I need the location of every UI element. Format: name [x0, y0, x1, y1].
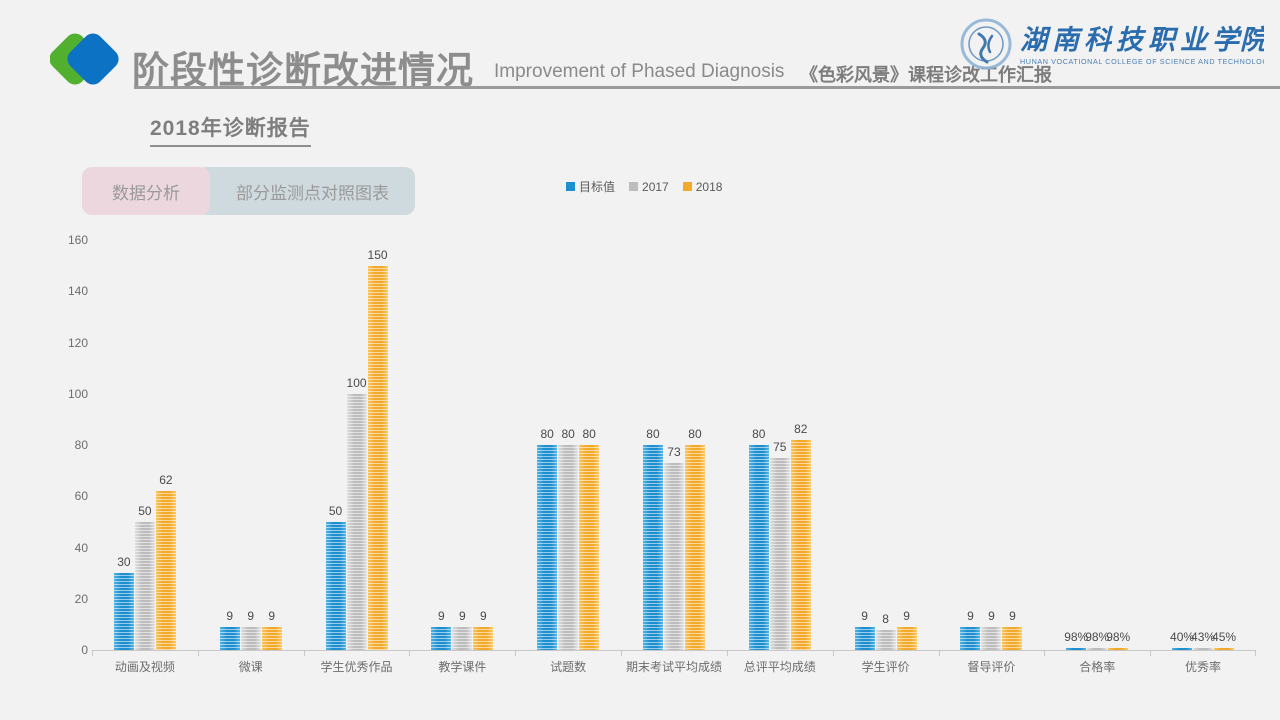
bar-value-label: 62 — [159, 473, 172, 487]
x-axis-category-label: 动画及视频 — [92, 658, 198, 675]
bar-slot: 80 — [643, 240, 663, 650]
x-axis-category-label: 合格率 — [1044, 658, 1150, 675]
bar-slot: 40% — [1172, 240, 1192, 650]
x-axis-tick — [621, 650, 622, 656]
bar-group: 305062动画及视频 — [92, 240, 198, 650]
bar-slot: 9 — [452, 240, 472, 650]
bar-slot: 98% — [1108, 240, 1128, 650]
bar-2018-教学课件[interactable]: 9 — [473, 627, 493, 650]
y-axis-tick-label: 140 — [42, 284, 88, 298]
legend-label: 目标值 — [579, 178, 615, 195]
bar-value-label: 100 — [347, 376, 367, 390]
bar-2017-督导评价[interactable]: 9 — [981, 627, 1001, 650]
svg-text:技: 技 — [1116, 25, 1147, 56]
bar-slot: 80 — [685, 240, 705, 650]
x-axis-tick — [1150, 650, 1151, 656]
bar-value-label: 150 — [368, 248, 388, 262]
title-underline-rule — [134, 86, 1280, 89]
bar-group: 808080试题数 — [515, 240, 621, 650]
x-axis-tick — [1044, 650, 1045, 656]
bar-group: 807582总评平均成绩 — [727, 240, 833, 650]
bar-slot: 30 — [114, 240, 134, 650]
bar-group: 999微课 — [198, 240, 304, 650]
x-axis-tick — [515, 650, 516, 656]
bar-group: 98%98%98%合格率 — [1044, 240, 1150, 650]
x-axis-category-label: 试题数 — [515, 658, 621, 675]
bar-2018-动画及视频[interactable]: 62 — [156, 491, 176, 650]
bar-slot: 50 — [135, 240, 155, 650]
x-axis-tick — [833, 650, 834, 656]
bar-目标值-微课[interactable]: 9 — [220, 627, 240, 650]
bar-slot: 9 — [897, 240, 917, 650]
bar-cluster: 40%43%45% — [1150, 240, 1256, 650]
bar-2018-学生优秀作品[interactable]: 150 — [368, 266, 388, 650]
bar-2018-督导评价[interactable]: 9 — [1002, 627, 1022, 650]
bar-value-label: 9 — [967, 609, 974, 623]
bar-slot: 150 — [368, 240, 388, 650]
bar-value-label: 9 — [903, 609, 910, 623]
x-axis-tick — [727, 650, 728, 656]
bar-目标值-试题数[interactable]: 80 — [537, 445, 557, 650]
y-axis-tick-label: 60 — [42, 489, 88, 503]
bar-目标值-学生优秀作品[interactable]: 50 — [326, 522, 346, 650]
bar-2018-合格率[interactable]: 98% — [1108, 648, 1128, 651]
x-axis-line — [92, 650, 1256, 651]
header-subtitle-en: Improvement of Phased Diagnosis — [494, 61, 784, 83]
bar-slot: 73 — [664, 240, 684, 650]
y-axis-tick-label: 40 — [42, 541, 88, 555]
bar-value-label: 9 — [226, 609, 233, 623]
svg-text:院: 院 — [1240, 25, 1264, 56]
bar-cluster: 305062 — [92, 240, 198, 650]
bar-slot: 62 — [156, 240, 176, 650]
legend-swatch-icon — [629, 182, 638, 191]
x-axis-category-label: 学生评价 — [833, 658, 939, 675]
legend-swatch-icon — [683, 182, 692, 191]
bar-value-label: 9 — [268, 609, 275, 623]
bar-value-label: 80 — [561, 427, 574, 441]
y-axis-tick-label: 100 — [42, 387, 88, 401]
legend-item-2017[interactable]: 2017 — [629, 180, 669, 194]
bar-group: 999教学课件 — [409, 240, 515, 650]
x-axis-tick — [304, 650, 305, 656]
bar-目标值-动画及视频[interactable]: 30 — [114, 573, 134, 650]
bar-group: 989学生评价 — [833, 240, 939, 650]
bar-value-label: 9 — [988, 609, 995, 623]
y-axis-tick-label: 20 — [42, 592, 88, 606]
bar-slot: 9 — [241, 240, 261, 650]
bar-slot: 43% — [1193, 240, 1213, 650]
bar-group: 807380期末考试平均成绩 — [621, 240, 727, 650]
svg-text:业: 业 — [1180, 25, 1210, 56]
bar-value-label: 9 — [861, 609, 868, 623]
grouped-bar-chart: 020406080100120140160 305062动画及视频999微课50… — [0, 240, 1280, 680]
bar-value-label: 9 — [438, 609, 445, 623]
bar-slot: 100 — [347, 240, 367, 650]
x-axis-category-label: 教学课件 — [409, 658, 515, 675]
bar-value-label: 80 — [582, 427, 595, 441]
legend-label: 2017 — [642, 180, 669, 194]
bar-cluster: 807380 — [621, 240, 727, 650]
bar-cluster: 808080 — [515, 240, 621, 650]
bar-cluster: 999 — [409, 240, 515, 650]
bar-slot: 80 — [749, 240, 769, 650]
bar-cluster: 50100150 — [304, 240, 410, 650]
bar-2017-合格率[interactable]: 98% — [1087, 648, 1107, 651]
y-axis-tick-label: 160 — [42, 233, 88, 247]
bar-group: 40%43%45%优秀率 — [1150, 240, 1256, 650]
bar-slot: 9 — [262, 240, 282, 650]
svg-text:HUNAN VOCATIONAL COLLEGE OF SC: HUNAN VOCATIONAL COLLEGE OF SCIENCE AND … — [1020, 57, 1264, 66]
bar-value-label: 50 — [329, 504, 342, 518]
bar-2018-学生评价[interactable]: 9 — [897, 627, 917, 650]
x-axis-category-label: 学生优秀作品 — [304, 658, 410, 675]
x-axis-tick — [939, 650, 940, 656]
bar-cluster: 999 — [939, 240, 1045, 650]
x-axis-category-label: 优秀率 — [1150, 658, 1256, 675]
bar-value-label: 73 — [667, 445, 680, 459]
svg-text:科: 科 — [1084, 25, 1113, 56]
y-axis-tick-label: 80 — [42, 438, 88, 452]
bar-2018-优秀率[interactable]: 45% — [1214, 648, 1234, 650]
bar-slot: 9 — [960, 240, 980, 650]
bar-目标值-总评平均成绩[interactable]: 80 — [749, 445, 769, 650]
bar-2018-微课[interactable]: 9 — [262, 627, 282, 650]
bar-slot: 82 — [791, 240, 811, 650]
bar-slot: 9 — [1002, 240, 1022, 650]
bar-slot: 8 — [876, 240, 896, 650]
bar-slot: 9 — [431, 240, 451, 650]
bar-目标值-教学课件[interactable]: 9 — [431, 627, 451, 650]
bar-slot: 98% — [1087, 240, 1107, 650]
bar-2017-总评平均成绩[interactable]: 75 — [770, 458, 790, 650]
legend-item-2018[interactable]: 2018 — [683, 180, 723, 194]
bar-value-label: 82 — [794, 422, 807, 436]
bar-2018-期末考试平均成绩[interactable]: 80 — [685, 445, 705, 650]
y-axis-tick-label: 0 — [42, 643, 88, 657]
bar-slot: 80 — [537, 240, 557, 650]
bar-slot: 9 — [220, 240, 240, 650]
bar-slot: 98% — [1066, 240, 1086, 650]
chart-legend: 目标值20172018 — [566, 178, 731, 195]
bar-value-label: 98% — [1106, 630, 1130, 644]
bar-value-label: 80 — [646, 427, 659, 441]
bar-slot: 9 — [981, 240, 1001, 650]
y-axis: 020406080100120140160 — [42, 240, 88, 650]
x-axis-tick — [92, 650, 93, 656]
bar-slot: 9 — [473, 240, 493, 650]
bar-2017-学生评价[interactable]: 8 — [876, 630, 896, 651]
slide-canvas: 阶段性诊断改进情况 Improvement of Phased Diagnosi… — [0, 0, 1280, 720]
bar-value-label: 80 — [752, 427, 765, 441]
section-title: 2018年诊断报告 — [150, 112, 311, 147]
legend-label: 2018 — [696, 180, 723, 194]
bar-2017-教学课件[interactable]: 9 — [452, 627, 472, 650]
svg-text:职: 职 — [1148, 25, 1179, 56]
bar-cluster: 807582 — [727, 240, 833, 650]
x-axis-category-label: 督导评价 — [939, 658, 1045, 675]
bar-slot: 80 — [558, 240, 578, 650]
bar-value-label: 30 — [117, 555, 130, 569]
bar-目标值-合格率[interactable]: 98% — [1066, 648, 1086, 651]
bar-目标值-学生评价[interactable]: 9 — [855, 627, 875, 650]
x-axis-tick — [198, 650, 199, 656]
bar-2017-试题数[interactable]: 80 — [558, 445, 578, 650]
svg-text:学: 学 — [1212, 25, 1243, 56]
bar-value-label: 50 — [138, 504, 151, 518]
x-axis-category-label: 期末考试平均成绩 — [621, 658, 727, 675]
bar-value-label: 80 — [688, 427, 701, 441]
bar-cluster: 989 — [833, 240, 939, 650]
x-axis-category-label: 总评平均成绩 — [727, 658, 833, 675]
bar-value-label: 9 — [1009, 609, 1016, 623]
bar-slot: 50 — [326, 240, 346, 650]
school-crest-icon: 湖南科 技职业 学院 HUNAN VOCATIONAL COLLEGE OF S… — [952, 16, 1264, 78]
bar-slot: 9 — [855, 240, 875, 650]
bar-value-label: 9 — [247, 609, 254, 623]
bar-cluster: 999 — [198, 240, 304, 650]
bar-2017-期末考试平均成绩[interactable]: 73 — [664, 463, 684, 650]
legend-item-目标值[interactable]: 目标值 — [566, 178, 615, 195]
legend-swatch-icon — [566, 182, 575, 191]
bar-value-label: 80 — [540, 427, 553, 441]
bar-value-label: 75 — [773, 440, 786, 454]
svg-text:南: 南 — [1052, 25, 1084, 56]
bar-目标值-督导评价[interactable]: 9 — [960, 627, 980, 650]
bar-group: 999督导评价 — [939, 240, 1045, 650]
bar-目标值-期末考试平均成绩[interactable]: 80 — [643, 445, 663, 650]
x-axis-tick — [409, 650, 410, 656]
bar-cluster: 98%98%98% — [1044, 240, 1150, 650]
bar-2017-微课[interactable]: 9 — [241, 627, 261, 650]
bar-2018-总评平均成绩[interactable]: 82 — [791, 440, 811, 650]
x-axis-category-label: 微课 — [198, 658, 304, 675]
bar-2017-优秀率[interactable]: 43% — [1193, 648, 1213, 650]
bar-value-label: 45% — [1212, 630, 1236, 644]
bar-slot: 45% — [1214, 240, 1234, 650]
bar-groups: 305062动画及视频999微课50100150学生优秀作品999教学课件808… — [92, 240, 1256, 650]
x-axis-tick — [1255, 650, 1256, 656]
bar-slot: 75 — [770, 240, 790, 650]
double-diamond-logo-icon — [50, 26, 138, 92]
bar-group: 50100150学生优秀作品 — [304, 240, 410, 650]
tab-data-analysis[interactable]: 数据分析 — [82, 167, 210, 215]
plot-area: 305062动画及视频999微课50100150学生优秀作品999教学课件808… — [92, 240, 1256, 650]
bar-目标值-优秀率[interactable]: 40% — [1172, 648, 1192, 650]
svg-text:湖: 湖 — [1020, 25, 1052, 56]
bar-value-label: 9 — [459, 609, 466, 623]
tab-comparison-charts[interactable]: 部分监测点对照图表 — [196, 167, 415, 215]
bar-value-label: 9 — [480, 609, 487, 623]
bar-2017-学生优秀作品[interactable]: 100 — [347, 394, 367, 650]
y-axis-tick-label: 120 — [42, 336, 88, 350]
bar-value-label: 8 — [882, 612, 889, 626]
bar-2018-试题数[interactable]: 80 — [579, 445, 599, 650]
tab-bar: 部分监测点对照图表 数据分析 — [82, 167, 415, 215]
bar-slot: 80 — [579, 240, 599, 650]
bar-2017-动画及视频[interactable]: 50 — [135, 522, 155, 650]
